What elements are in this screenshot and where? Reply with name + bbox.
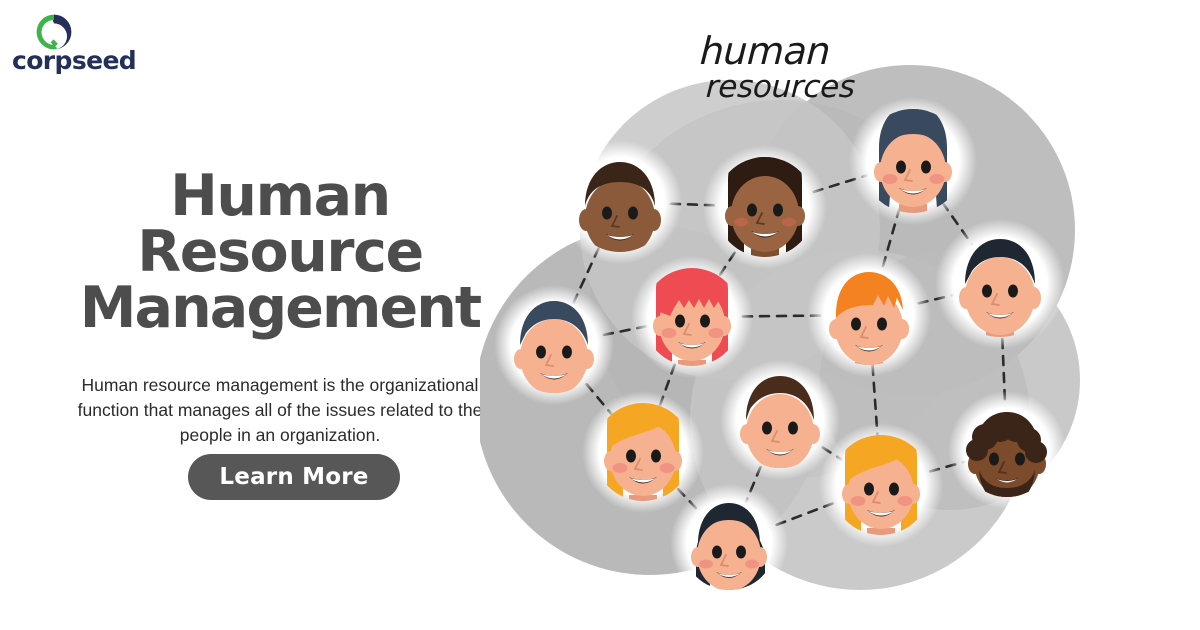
headline-line-1: Human — [60, 168, 500, 224]
headline-line-3: Management — [60, 280, 500, 336]
headline-line-2: Resource — [60, 224, 500, 280]
hr-network-illustration — [480, 0, 1200, 630]
brand-name: corpseed — [12, 48, 172, 74]
brand-logo[interactable]: corpseed — [8, 10, 178, 70]
hero-description: Human resource management is the organiz… — [70, 373, 490, 448]
learn-more-button[interactable]: Learn More — [188, 454, 400, 500]
page-title: Human Resource Management — [60, 168, 500, 336]
hero-banner: corpseed Human Resource Management Human… — [0, 0, 1200, 630]
